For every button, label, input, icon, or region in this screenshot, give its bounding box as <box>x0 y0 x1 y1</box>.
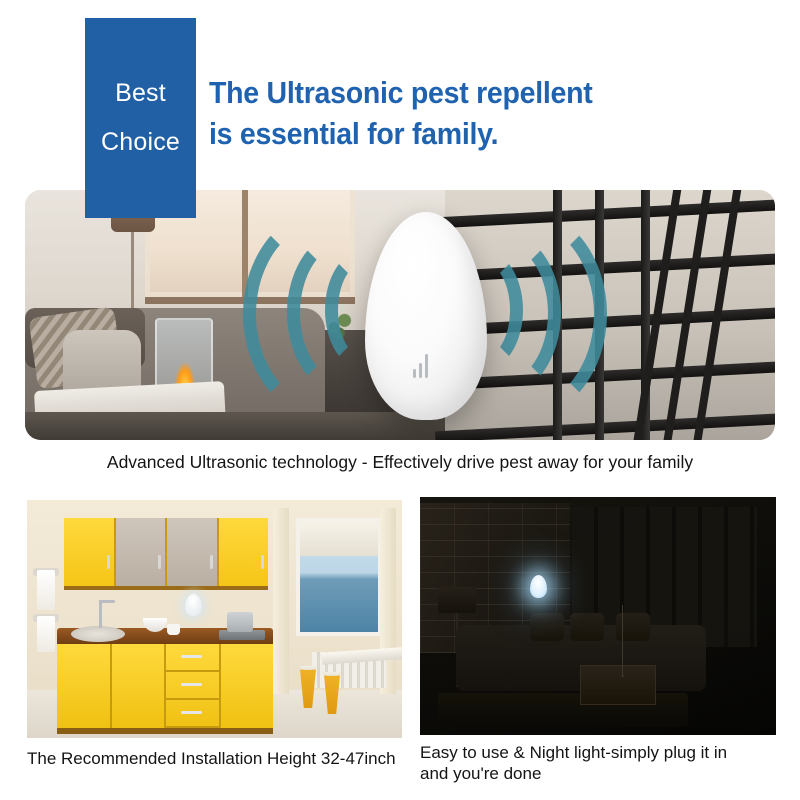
faucet <box>99 600 102 628</box>
drawer <box>166 644 219 672</box>
night-light-caption-line-2: and you're done <box>420 764 790 785</box>
best-choice-badge: Best Choice <box>85 18 196 218</box>
houseplant <box>325 306 355 342</box>
badge-line-choice: Choice <box>101 130 180 155</box>
upper-cabinets <box>64 518 268 590</box>
stair-baluster <box>553 190 562 440</box>
stair-baluster <box>595 190 604 440</box>
kitchen-sink <box>71 626 125 642</box>
lower-cabinets <box>57 644 273 734</box>
stair-tread <box>435 361 775 391</box>
pot <box>227 612 253 632</box>
coffee-table <box>25 412 445 440</box>
hero-photo <box>25 190 775 440</box>
cup <box>167 624 180 635</box>
decor-branch <box>606 605 640 677</box>
window-mullion <box>242 190 248 297</box>
stair-tread <box>435 413 775 440</box>
kitchen-caption: The Recommended Installation Height 32-4… <box>27 748 407 769</box>
throw-pillow <box>530 613 564 641</box>
hero-caption: Advanced Ultrasonic technology - Effecti… <box>0 452 800 473</box>
night-light-caption: Easy to use & Night light-simply plug it… <box>420 743 790 784</box>
floor-lamp-shade <box>438 587 476 613</box>
drawer <box>166 672 219 700</box>
badge-line-best: Best <box>115 81 166 106</box>
wall-plugged-repeller <box>185 594 202 616</box>
hero-scene <box>25 190 775 440</box>
cabinet-door <box>57 644 112 728</box>
towel <box>37 570 55 610</box>
throw-pillow <box>570 613 604 641</box>
drawer-stack <box>166 644 221 728</box>
curtain-left <box>273 508 289 694</box>
cabinet-door-glass <box>167 518 219 586</box>
kitchen-installation-photo <box>27 500 402 738</box>
headline-line-2: is essential for family. <box>209 113 687 154</box>
glowing-night-light-repeller <box>530 575 547 598</box>
staircase <box>445 190 775 440</box>
towel <box>37 616 55 652</box>
headline-line-1: The Ultrasonic pest repellent <box>209 72 687 113</box>
cabinet-door <box>112 644 167 728</box>
cabinet-door <box>219 518 269 586</box>
night-light-caption-line-1: Easy to use & Night light-simply plug it… <box>420 743 790 764</box>
night-light-photo <box>420 497 776 735</box>
page-headline: The Ultrasonic pest repellent is essenti… <box>209 72 687 154</box>
product-marketing-page: Best Choice The Ultrasonic pest repellen… <box>0 0 800 800</box>
led-indicator-icon <box>413 354 431 378</box>
cabinet-door <box>221 644 274 728</box>
window-blind <box>300 522 378 556</box>
drawer <box>166 700 219 728</box>
stair-tread <box>435 199 775 229</box>
cabinet-door <box>64 518 116 586</box>
cabinet-door-glass <box>116 518 168 586</box>
